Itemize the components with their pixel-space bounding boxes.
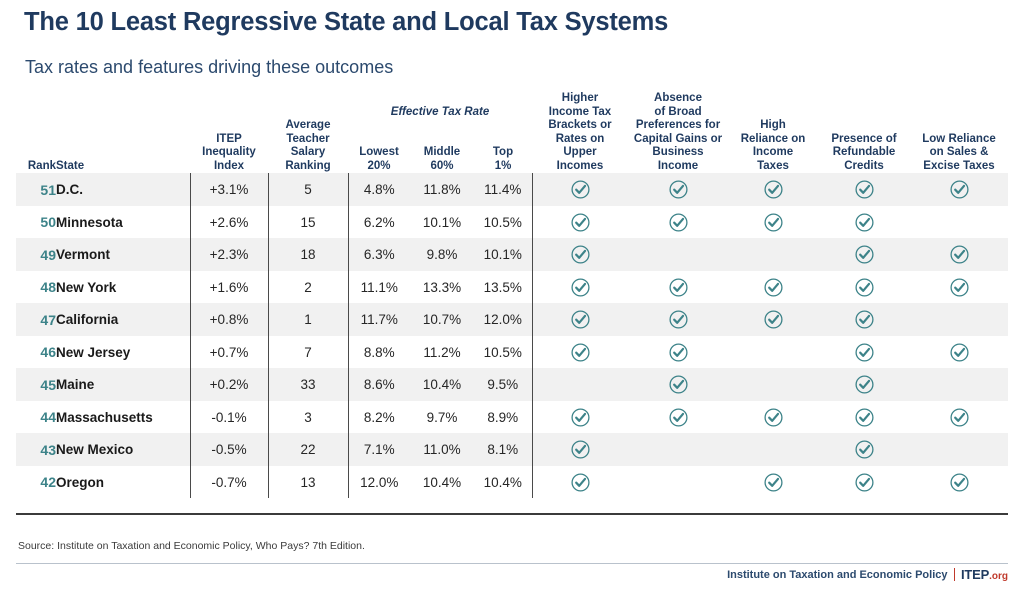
cell-presence-of-refundable-credits [818,271,910,304]
check-circle-icon [764,408,783,427]
cell-rank: 49 [16,238,56,271]
cell-middle-60: 11.2% [410,336,474,369]
check-circle-icon [571,343,590,362]
cell-top-1: 9.5% [474,368,532,401]
cell-higher-income-tax-brackets [532,271,628,304]
cell-top-1: 11.4% [474,173,532,206]
check-circle-icon [950,278,969,297]
check-circle-icon [855,473,874,492]
check-circle-icon [571,310,590,329]
cell-high-reliance-on-income-taxes [728,206,818,239]
cell-absence-of-broad-preferences [628,336,728,369]
cell-high-reliance-on-income-taxes [728,433,818,466]
footer-brand-divider [954,568,956,581]
cell-higher-income-tax-brackets [532,238,628,271]
cell-middle-60: 10.1% [410,206,474,239]
check-circle-icon [571,278,590,297]
cell-higher-income-tax-brackets [532,303,628,336]
cell-teacher-salary-ranking: 7 [268,336,348,369]
check-circle-icon [669,310,688,329]
cell-itep-inequality-index: +1.6% [190,271,268,304]
cell-lowest-20: 8.8% [348,336,410,369]
cell-high-reliance-on-income-taxes [728,238,818,271]
table-row: 43New Mexico-0.5%227.1%11.0%8.1% [16,433,1008,466]
cell-presence-of-refundable-credits [818,466,910,499]
footer-logo-suffix: .org [989,571,1008,582]
cell-lowest-20: 11.7% [348,303,410,336]
cell-absence-of-broad-preferences [628,401,728,434]
check-circle-icon [764,213,783,232]
check-circle-icon [669,375,688,394]
tax-systems-table: Rank State ITEP Inequality Index Average… [16,92,1008,498]
table-row: 48New York+1.6%211.1%13.3%13.5% [16,271,1008,304]
table-row: 49Vermont+2.3%186.3%9.8%10.1% [16,238,1008,271]
table-row: 50Minnesota+2.6%156.2%10.1%10.5% [16,206,1008,239]
cell-rank: 43 [16,433,56,466]
cell-presence-of-refundable-credits [818,433,910,466]
cell-absence-of-broad-preferences [628,466,728,499]
table-row: 42Oregon-0.7%1312.0%10.4%10.4% [16,466,1008,499]
cell-lowest-20: 7.1% [348,433,410,466]
cell-itep-inequality-index: +2.6% [190,206,268,239]
cell-high-reliance-on-income-taxes [728,173,818,206]
cell-middle-60: 10.4% [410,368,474,401]
cell-middle-60: 10.4% [410,466,474,499]
cell-state: New Jersey [56,336,190,369]
cell-top-1: 10.1% [474,238,532,271]
check-circle-icon [855,180,874,199]
cell-low-reliance-on-sales-excise-taxes [910,368,1008,401]
cell-rank: 47 [16,303,56,336]
footer-rule [16,563,1008,564]
check-circle-icon [855,440,874,459]
cell-lowest-20: 12.0% [348,466,410,499]
col-header-absence-of-broad-preferences: Absence of Broad Preferences for Capital… [628,92,728,173]
col-header-rank: Rank [16,92,56,173]
cell-rank: 44 [16,401,56,434]
cell-low-reliance-on-sales-excise-taxes [910,173,1008,206]
check-circle-icon [855,245,874,264]
cell-teacher-salary-ranking: 13 [268,466,348,499]
cell-teacher-salary-ranking: 5 [268,173,348,206]
check-circle-icon [950,343,969,362]
cell-low-reliance-on-sales-excise-taxes [910,303,1008,336]
cell-rank: 45 [16,368,56,401]
cell-absence-of-broad-preferences [628,433,728,466]
cell-presence-of-refundable-credits [818,368,910,401]
tax-systems-table-wrap: Rank State ITEP Inequality Index Average… [16,92,1008,498]
cell-itep-inequality-index: -0.1% [190,401,268,434]
footer-brand-name: Institute on Taxation and Economic Polic… [727,569,947,581]
cell-middle-60: 9.8% [410,238,474,271]
cell-presence-of-refundable-credits [818,303,910,336]
cell-state: Maine [56,368,190,401]
cell-higher-income-tax-brackets [532,401,628,434]
check-circle-icon [855,408,874,427]
cell-state: Oregon [56,466,190,499]
check-circle-icon [855,278,874,297]
check-circle-icon [571,213,590,232]
check-circle-icon [950,408,969,427]
col-header-low-reliance-on-sales-excise-taxes: Low Reliance on Sales & Excise Taxes [910,92,1008,173]
cell-state: New Mexico [56,433,190,466]
col-group-header-effective-tax-rate: Effective Tax Rate [348,92,532,122]
cell-rank: 51 [16,173,56,206]
cell-absence-of-broad-preferences [628,303,728,336]
cell-low-reliance-on-sales-excise-taxes [910,401,1008,434]
check-circle-icon [950,473,969,492]
cell-high-reliance-on-income-taxes [728,401,818,434]
cell-teacher-salary-ranking: 15 [268,206,348,239]
cell-middle-60: 11.8% [410,173,474,206]
col-header-lowest-20: Lowest 20% [348,122,410,174]
check-circle-icon [855,310,874,329]
source-note: Source: Institute on Taxation and Econom… [18,540,365,552]
table-bottom-rule [16,513,1008,515]
check-circle-icon [764,310,783,329]
cell-itep-inequality-index: -0.7% [190,466,268,499]
cell-rank: 46 [16,336,56,369]
check-circle-icon [669,278,688,297]
cell-itep-inequality-index: +0.7% [190,336,268,369]
cell-high-reliance-on-income-taxes [728,336,818,369]
cell-high-reliance-on-income-taxes [728,466,818,499]
cell-presence-of-refundable-credits [818,401,910,434]
cell-lowest-20: 4.8% [348,173,410,206]
cell-state: New York [56,271,190,304]
check-circle-icon [669,408,688,427]
col-header-presence-of-refundable-credits: Presence of Refundable Credits [818,92,910,173]
cell-presence-of-refundable-credits [818,336,910,369]
cell-itep-inequality-index: +0.2% [190,368,268,401]
cell-teacher-salary-ranking: 1 [268,303,348,336]
cell-lowest-20: 6.3% [348,238,410,271]
cell-itep-inequality-index: +3.1% [190,173,268,206]
cell-absence-of-broad-preferences [628,206,728,239]
cell-higher-income-tax-brackets [532,433,628,466]
check-circle-icon [764,180,783,199]
cell-state: Minnesota [56,206,190,239]
cell-top-1: 13.5% [474,271,532,304]
cell-middle-60: 10.7% [410,303,474,336]
table-group-header-row: Rank State ITEP Inequality Index Average… [16,92,1008,122]
cell-itep-inequality-index: -0.5% [190,433,268,466]
col-header-itep-inequality-index: ITEP Inequality Index [190,92,268,173]
cell-top-1: 10.5% [474,206,532,239]
cell-lowest-20: 6.2% [348,206,410,239]
check-circle-icon [571,408,590,427]
table-row: 51D.C.+3.1%54.8%11.8%11.4% [16,173,1008,206]
table-row: 47California+0.8%111.7%10.7%12.0% [16,303,1008,336]
cell-state: D.C. [56,173,190,206]
cell-state: California [56,303,190,336]
cell-top-1: 10.5% [474,336,532,369]
cell-higher-income-tax-brackets [532,206,628,239]
cell-itep-inequality-index: +2.3% [190,238,268,271]
cell-low-reliance-on-sales-excise-taxes [910,433,1008,466]
cell-high-reliance-on-income-taxes [728,303,818,336]
cell-high-reliance-on-income-taxes [728,368,818,401]
check-circle-icon [571,440,590,459]
cell-presence-of-refundable-credits [818,206,910,239]
page-title: The 10 Least Regressive State and Local … [24,8,668,37]
cell-higher-income-tax-brackets [532,173,628,206]
cell-absence-of-broad-preferences [628,368,728,401]
cell-high-reliance-on-income-taxes [728,271,818,304]
table-row: 45Maine+0.2%338.6%10.4%9.5% [16,368,1008,401]
cell-teacher-salary-ranking: 3 [268,401,348,434]
cell-lowest-20: 8.6% [348,368,410,401]
cell-higher-income-tax-brackets [532,466,628,499]
cell-teacher-salary-ranking: 18 [268,238,348,271]
col-header-higher-income-tax-brackets: Higher Income Tax Brackets or Rates on U… [532,92,628,173]
col-header-state: State [56,92,190,173]
cell-top-1: 8.1% [474,433,532,466]
cell-low-reliance-on-sales-excise-taxes [910,336,1008,369]
check-circle-icon [855,343,874,362]
check-circle-icon [764,278,783,297]
cell-presence-of-refundable-credits [818,238,910,271]
check-circle-icon [764,473,783,492]
check-circle-icon [950,180,969,199]
cell-low-reliance-on-sales-excise-taxes [910,271,1008,304]
cell-rank: 50 [16,206,56,239]
cell-higher-income-tax-brackets [532,368,628,401]
table-row: 44Massachusetts-0.1%38.2%9.7%8.9% [16,401,1008,434]
check-circle-icon [855,375,874,394]
cell-absence-of-broad-preferences [628,271,728,304]
cell-rank: 48 [16,271,56,304]
cell-low-reliance-on-sales-excise-taxes [910,238,1008,271]
check-circle-icon [571,180,590,199]
cell-top-1: 8.9% [474,401,532,434]
cell-middle-60: 11.0% [410,433,474,466]
cell-lowest-20: 11.1% [348,271,410,304]
check-circle-icon [855,213,874,232]
check-circle-icon [669,213,688,232]
page-subtitle: Tax rates and features driving these out… [25,57,393,78]
check-circle-icon [571,473,590,492]
check-circle-icon [669,180,688,199]
cell-absence-of-broad-preferences [628,238,728,271]
cell-teacher-salary-ranking: 33 [268,368,348,401]
cell-top-1: 12.0% [474,303,532,336]
table-body: 51D.C.+3.1%54.8%11.8%11.4%50Minnesota+2.… [16,173,1008,498]
cell-absence-of-broad-preferences [628,173,728,206]
cell-state: Vermont [56,238,190,271]
cell-rank: 42 [16,466,56,499]
col-header-middle-60: Middle 60% [410,122,474,174]
chart-page: The 10 Least Regressive State and Local … [0,0,1024,589]
cell-middle-60: 9.7% [410,401,474,434]
cell-state: Massachusetts [56,401,190,434]
cell-itep-inequality-index: +0.8% [190,303,268,336]
col-header-high-reliance-on-income-taxes: High Reliance on Income Taxes [728,92,818,173]
footer-logo-main: ITEP [961,567,989,582]
table-head: Rank State ITEP Inequality Index Average… [16,92,1008,173]
table-row: 46New Jersey+0.7%78.8%11.2%10.5% [16,336,1008,369]
cell-lowest-20: 8.2% [348,401,410,434]
cell-middle-60: 13.3% [410,271,474,304]
footer-logo[interactable]: ITEP.org [961,567,1008,582]
cell-low-reliance-on-sales-excise-taxes [910,466,1008,499]
cell-low-reliance-on-sales-excise-taxes [910,206,1008,239]
cell-top-1: 10.4% [474,466,532,499]
cell-teacher-salary-ranking: 22 [268,433,348,466]
cell-teacher-salary-ranking: 2 [268,271,348,304]
col-header-top-1: Top 1% [474,122,532,174]
footer-brand: Institute on Taxation and Economic Polic… [727,567,1008,582]
cell-higher-income-tax-brackets [532,336,628,369]
col-header-average-teacher-salary-ranking: Average Teacher Salary Ranking [268,92,348,173]
check-circle-icon [669,343,688,362]
cell-presence-of-refundable-credits [818,173,910,206]
check-circle-icon [950,245,969,264]
check-circle-icon [571,245,590,264]
